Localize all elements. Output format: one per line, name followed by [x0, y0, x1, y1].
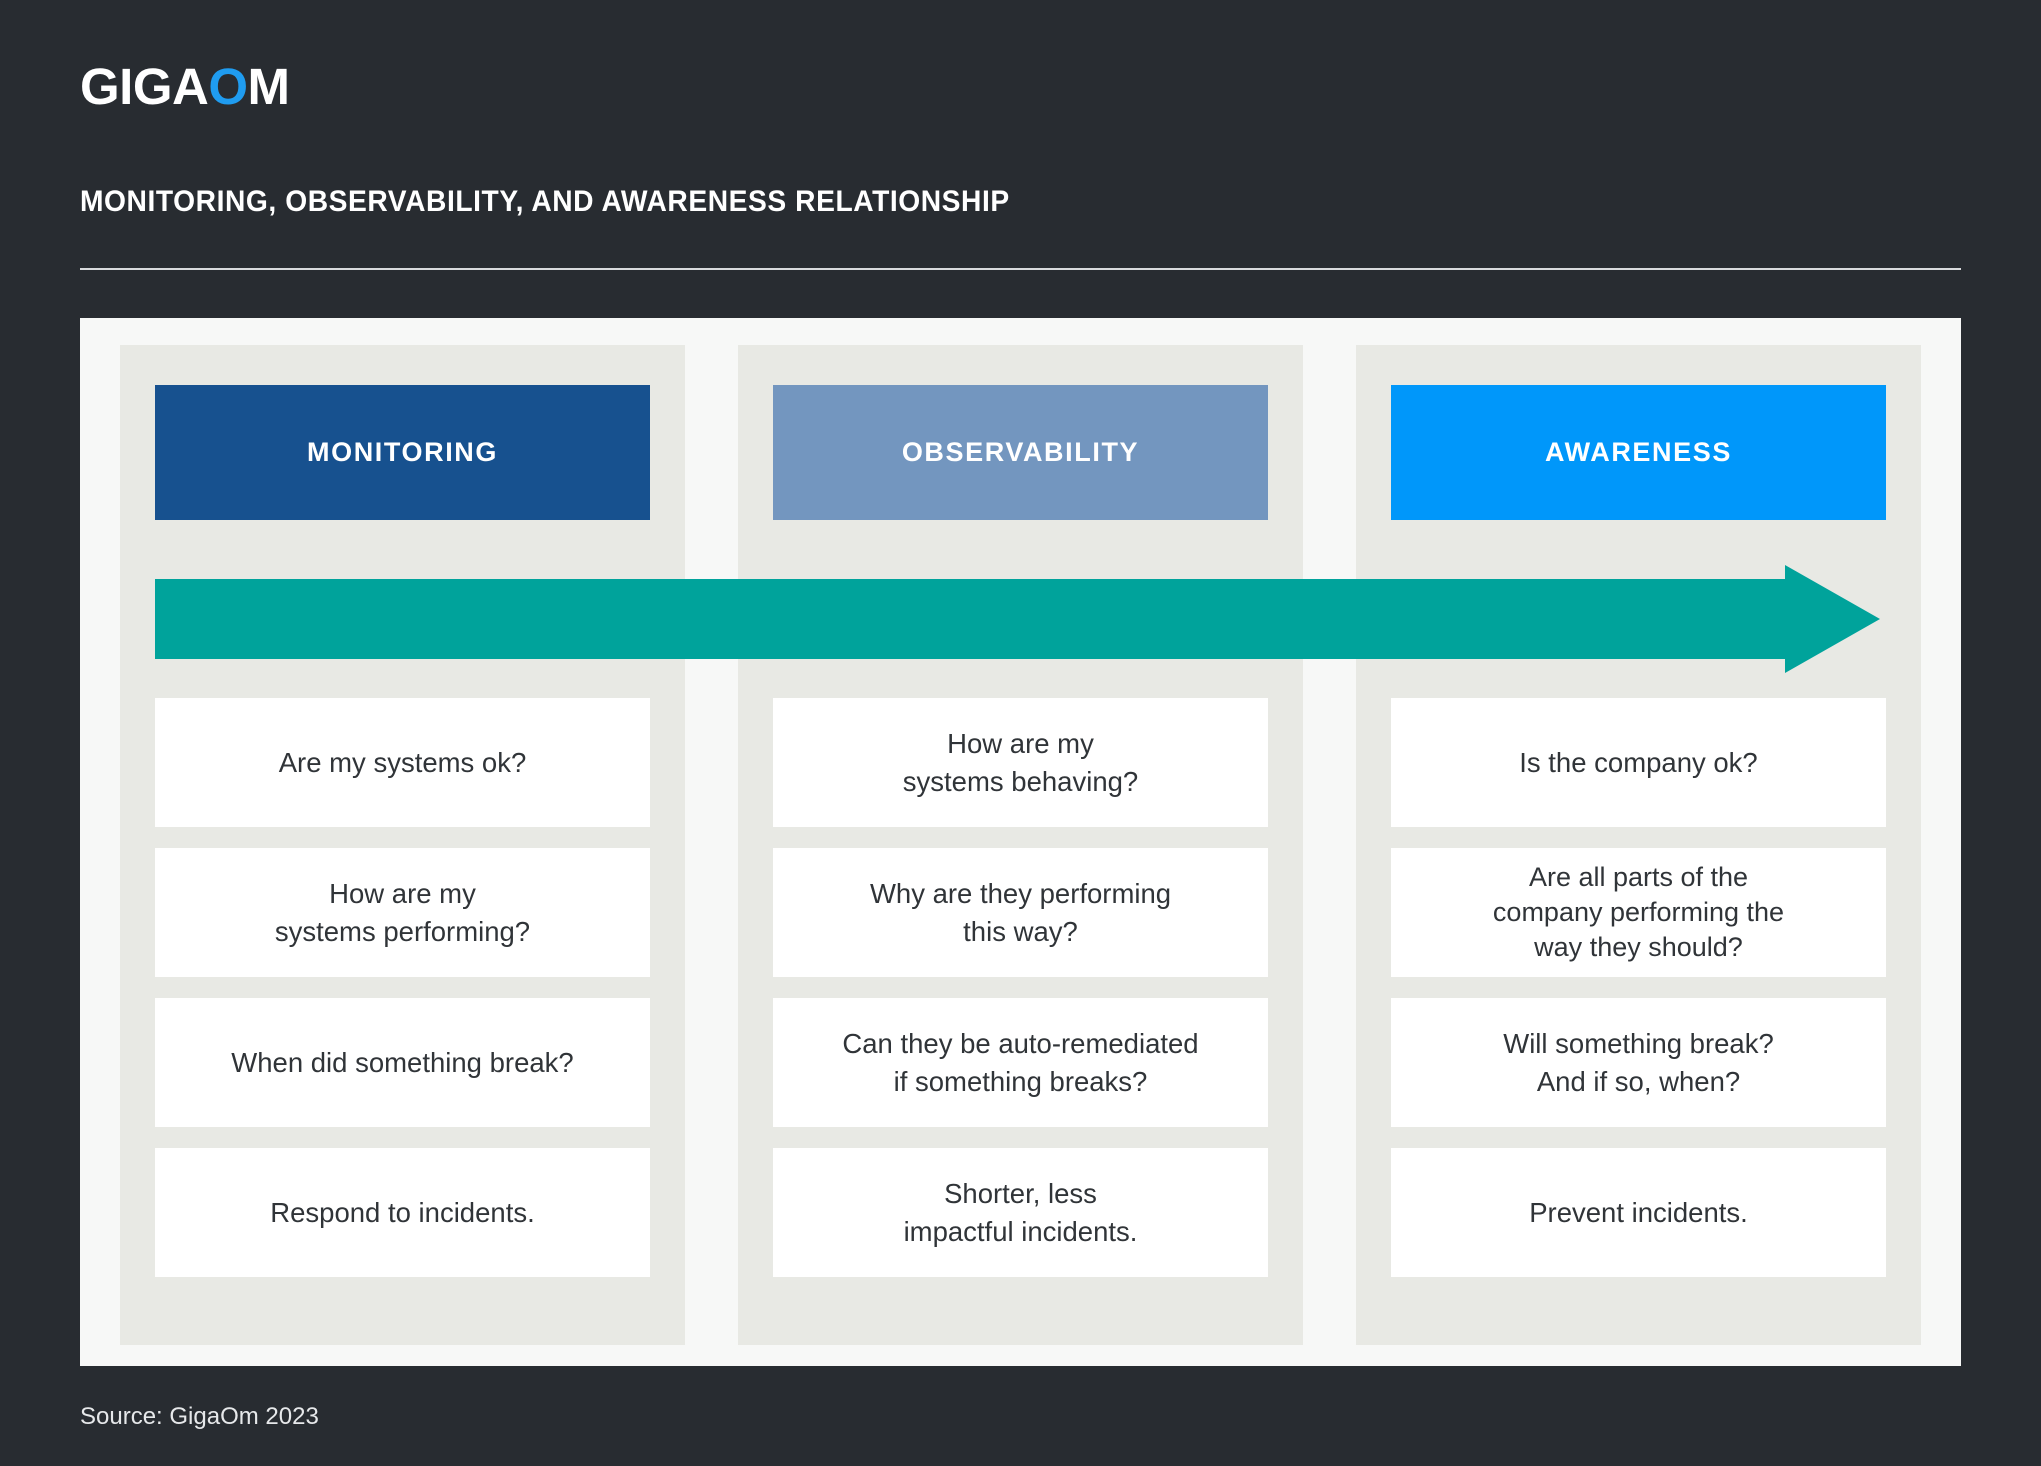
column-header-observability: OBSERVABILITY: [773, 385, 1268, 520]
question-box: Prevent incidents.: [1391, 1148, 1886, 1277]
source-attribution: Source: GigaOm 2023: [80, 1403, 319, 1431]
column-header-monitoring: MONITORING: [155, 385, 650, 520]
column-awareness: AWARENESS Is the company ok? Are all par…: [1356, 345, 1921, 1345]
title-divider: [80, 268, 1961, 270]
column-monitoring: MONITORING Are my systems ok? How are my…: [120, 345, 685, 1345]
columns-container: MONITORING Are my systems ok? How are my…: [120, 345, 1921, 1345]
question-box: Can they be auto-remediatedif something …: [773, 998, 1268, 1127]
question-box: How are mysystems behaving?: [773, 698, 1268, 827]
question-text: Are all parts of thecompany performing t…: [1493, 860, 1784, 965]
question-box: Why are they performingthis way?: [773, 848, 1268, 977]
question-box: Will something break?And if so, when?: [1391, 998, 1886, 1127]
question-box: How are mysystems performing?: [155, 848, 650, 977]
progression-arrow: [155, 565, 1880, 673]
question-text: Are my systems ok?: [279, 744, 527, 781]
question-box: Is the company ok?: [1391, 698, 1886, 827]
question-list-observability: How are mysystems behaving? Why are they…: [773, 698, 1268, 1277]
question-text: How are mysystems performing?: [275, 875, 530, 950]
question-text: Shorter, lessimpactful incidents.: [904, 1175, 1138, 1250]
question-text: Why are they performingthis way?: [870, 875, 1171, 950]
question-text: Is the company ok?: [1519, 744, 1757, 781]
question-box: Shorter, lessimpactful incidents.: [773, 1148, 1268, 1277]
column-header-awareness: AWARENESS: [1391, 385, 1886, 520]
question-box: Respond to incidents.: [155, 1148, 650, 1277]
question-text: Will something break?And if so, when?: [1503, 1025, 1774, 1100]
question-text: Prevent incidents.: [1529, 1194, 1748, 1231]
logo-text-part2: M: [248, 58, 290, 115]
gigaom-logo: GIGAOM: [80, 58, 290, 114]
logo-text-part1: GIGA: [80, 58, 208, 115]
question-box: Are all parts of thecompany performing t…: [1391, 848, 1886, 977]
question-text: Respond to incidents.: [270, 1194, 534, 1231]
question-text: Can they be auto-remediatedif something …: [842, 1025, 1198, 1100]
question-box: When did something break?: [155, 998, 650, 1127]
column-observability: OBSERVABILITY How are mysystems behaving…: [738, 345, 1303, 1345]
logo-text: GIGAOM: [80, 61, 290, 112]
arrow-right-icon: [155, 565, 1880, 673]
question-list-monitoring: Are my systems ok? How are mysystems per…: [155, 698, 650, 1277]
infographic-page: GIGAOM MONITORING, OBSERVABILITY, AND AW…: [0, 0, 2041, 1466]
column-header-label: MONITORING: [307, 437, 498, 468]
logo-accent-o: O: [208, 58, 247, 115]
question-box: Are my systems ok?: [155, 698, 650, 827]
page-title: MONITORING, OBSERVABILITY, AND AWARENESS…: [80, 185, 1010, 219]
question-text: How are mysystems behaving?: [903, 725, 1138, 800]
diagram-panel: MONITORING Are my systems ok? How are my…: [80, 318, 1961, 1366]
column-header-label: AWARENESS: [1545, 437, 1732, 468]
question-text: When did something break?: [231, 1044, 573, 1081]
column-header-label: OBSERVABILITY: [902, 437, 1139, 468]
question-list-awareness: Is the company ok? Are all parts of thec…: [1391, 698, 1886, 1277]
